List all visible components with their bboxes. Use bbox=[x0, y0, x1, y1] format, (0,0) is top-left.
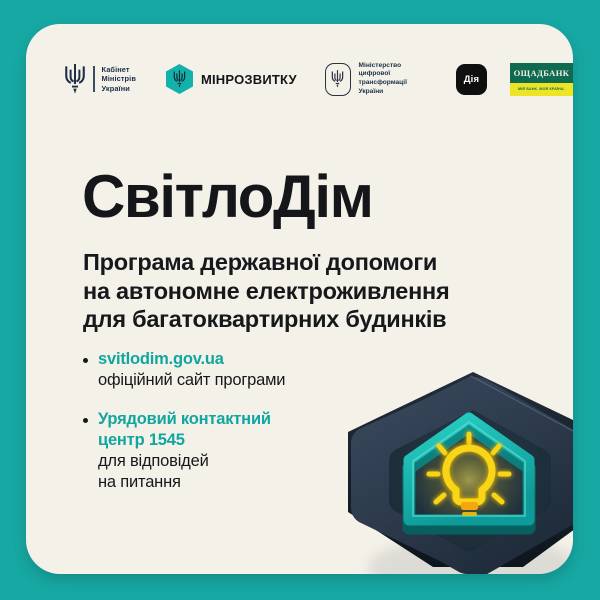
page-title: СвітлоДім bbox=[82, 167, 373, 227]
logo-digital-ministry: Міністерство цифрової трансформації Укра… bbox=[325, 62, 428, 96]
cabinet-label: Кабінет Міністрів України bbox=[102, 65, 136, 93]
contact-center-line-2: центр 1545 bbox=[98, 431, 185, 449]
house-lightbulb-hexagon-3d bbox=[323, 362, 573, 574]
bullet-dot-icon bbox=[83, 358, 88, 363]
oschadbank-tagline: МІЙ БАНК. МОЯ КРАЇНА. bbox=[510, 83, 573, 96]
digital-ministry-line-1: Міністерство bbox=[359, 62, 402, 69]
cabinet-line-3: України bbox=[102, 84, 130, 93]
logo-divider bbox=[93, 66, 95, 92]
subtitle-line-1: Програма державної допомоги bbox=[83, 249, 437, 275]
logo-diia: Дія bbox=[456, 64, 487, 95]
info-list: svitlodim.gov.ua офіційний сайт програми… bbox=[83, 349, 353, 511]
contact-caption-line-2: на питання bbox=[98, 473, 181, 491]
digital-ministry-line-3: України bbox=[359, 88, 384, 95]
logo-bar: Кабінет Міністрів України bbox=[64, 56, 573, 102]
trident-icon bbox=[325, 63, 351, 96]
page-subtitle: Програма державної допомоги на автономне… bbox=[83, 248, 449, 334]
subtitle-line-2: на автономне електроживлення bbox=[83, 278, 449, 304]
logo-minrozvytku: МІНРОЗВИТКУ bbox=[166, 64, 297, 94]
contact-center-label[interactable]: Урядовий контактний центр 1545 bbox=[98, 409, 353, 451]
trident-icon bbox=[64, 64, 86, 94]
contact-center-caption: для відповідей на питання bbox=[98, 451, 353, 493]
oschadbank-name: ОЩАДБАНК bbox=[510, 63, 573, 83]
poster-stage: Кабінет Міністрів України bbox=[0, 0, 600, 600]
logo-cabinet-of-ministers: Кабінет Міністрів України bbox=[64, 64, 136, 94]
trident-hexagon-icon bbox=[166, 64, 193, 94]
contact-caption-line-1: для відповідей bbox=[98, 452, 209, 470]
bullet-dot-icon bbox=[83, 418, 88, 423]
cabinet-line-1: Кабінет bbox=[102, 65, 130, 74]
cabinet-line-2: Міністрів bbox=[102, 74, 136, 83]
digital-ministry-line-2: цифрової трансформації bbox=[359, 70, 407, 86]
contact-center-line-1: Урядовий контактний bbox=[98, 410, 271, 428]
website-caption: офіційний сайт програми bbox=[98, 370, 353, 391]
poster-card: Кабінет Міністрів України bbox=[26, 24, 573, 574]
logo-oschadbank: ОЩАДБАНК МІЙ БАНК. МОЯ КРАЇНА. bbox=[510, 63, 573, 96]
list-item: svitlodim.gov.ua офіційний сайт програми bbox=[83, 349, 353, 391]
website-link[interactable]: svitlodim.gov.ua bbox=[98, 349, 353, 370]
minrozvytku-label: МІНРОЗВИТКУ bbox=[201, 72, 297, 87]
subtitle-line-3: для багатоквартирних будинків bbox=[83, 306, 446, 332]
digital-ministry-label: Міністерство цифрової трансформації Укра… bbox=[359, 62, 429, 96]
diia-label: Дія bbox=[456, 64, 487, 95]
list-item: Урядовий контактний центр 1545 для відпо… bbox=[83, 409, 353, 493]
